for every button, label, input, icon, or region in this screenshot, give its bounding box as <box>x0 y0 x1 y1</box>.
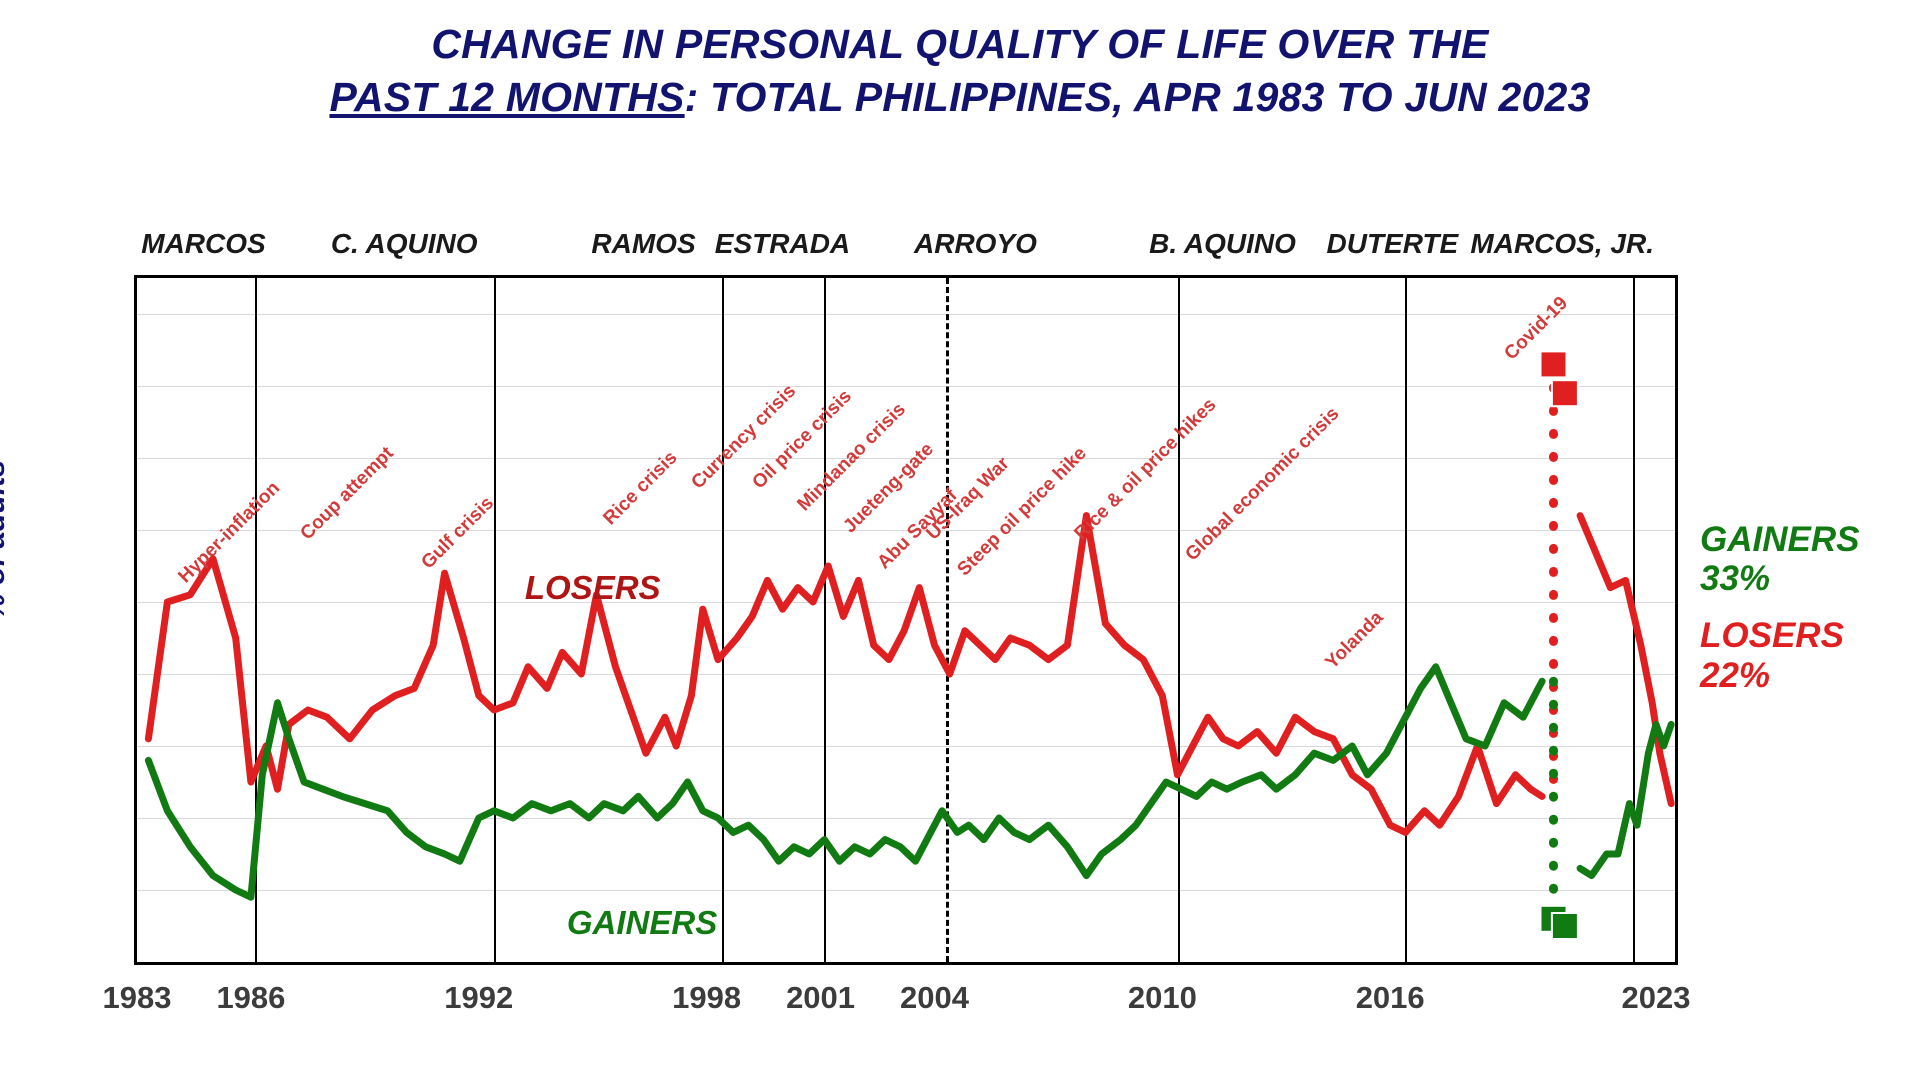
legend: GAINERS 33% LOSERS 22% <box>1700 520 1920 695</box>
x-tick-2001: 2001 <box>786 980 855 1016</box>
legend-gainers-value: 33% <box>1700 559 1920 598</box>
x-tick-2010: 2010 <box>1128 980 1197 1016</box>
x-tick-2016: 2016 <box>1356 980 1425 1016</box>
president-label-c-aquino: C. AQUINO <box>331 228 478 260</box>
title-line-2-rest: : TOTAL PHILIPPINES, APR 1983 TO JUN 202… <box>685 74 1591 120</box>
legend-losers-value: 22% <box>1700 656 1920 695</box>
y-axis-title: % of adults <box>0 460 12 620</box>
in-chart-label-losers: LOSERS <box>525 569 661 607</box>
president-label-marcos-jr: MARCOS, JR. <box>1470 228 1654 260</box>
president-label-estrada: ESTRADA <box>715 228 850 260</box>
x-tick-2004: 2004 <box>900 980 969 1016</box>
x-tick-2023: 2023 <box>1622 980 1691 1016</box>
x-tick-1992: 1992 <box>444 980 513 1016</box>
president-label-arroyo: ARROYO <box>914 228 1037 260</box>
legend-gainers-name: GAINERS <box>1700 520 1920 559</box>
president-header-row: MARCOSC. AQUINORAMOSESTRADAARROYOB. AQUI… <box>0 228 1920 270</box>
x-tick-1983: 1983 <box>103 980 172 1016</box>
legend-losers-name: LOSERS <box>1700 616 1920 655</box>
page-title: CHANGE IN PERSONAL QUALITY OF LIFE OVER … <box>0 18 1920 125</box>
president-label-ramos: RAMOS <box>591 228 695 260</box>
in-chart-label-gainers: GAINERS <box>567 904 717 942</box>
x-tick-1986: 1986 <box>216 980 285 1016</box>
chart-plot-area: Hyper-inflationCoup attemptGulf crisisRi… <box>134 275 1678 965</box>
president-label-b-aquino: B. AQUINO <box>1149 228 1296 260</box>
title-line-1: CHANGE IN PERSONAL QUALITY OF LIFE OVER … <box>0 18 1920 71</box>
x-tick-1998: 1998 <box>672 980 741 1016</box>
title-line-2: PAST 12 MONTHS: TOTAL PHILIPPINES, APR 1… <box>0 71 1920 124</box>
series-lines <box>137 278 1675 962</box>
title-underlined-part: PAST 12 MONTHS <box>329 74 684 120</box>
president-label-marcos: MARCOS <box>141 228 265 260</box>
president-label-duterte: DUTERTE <box>1327 228 1459 260</box>
